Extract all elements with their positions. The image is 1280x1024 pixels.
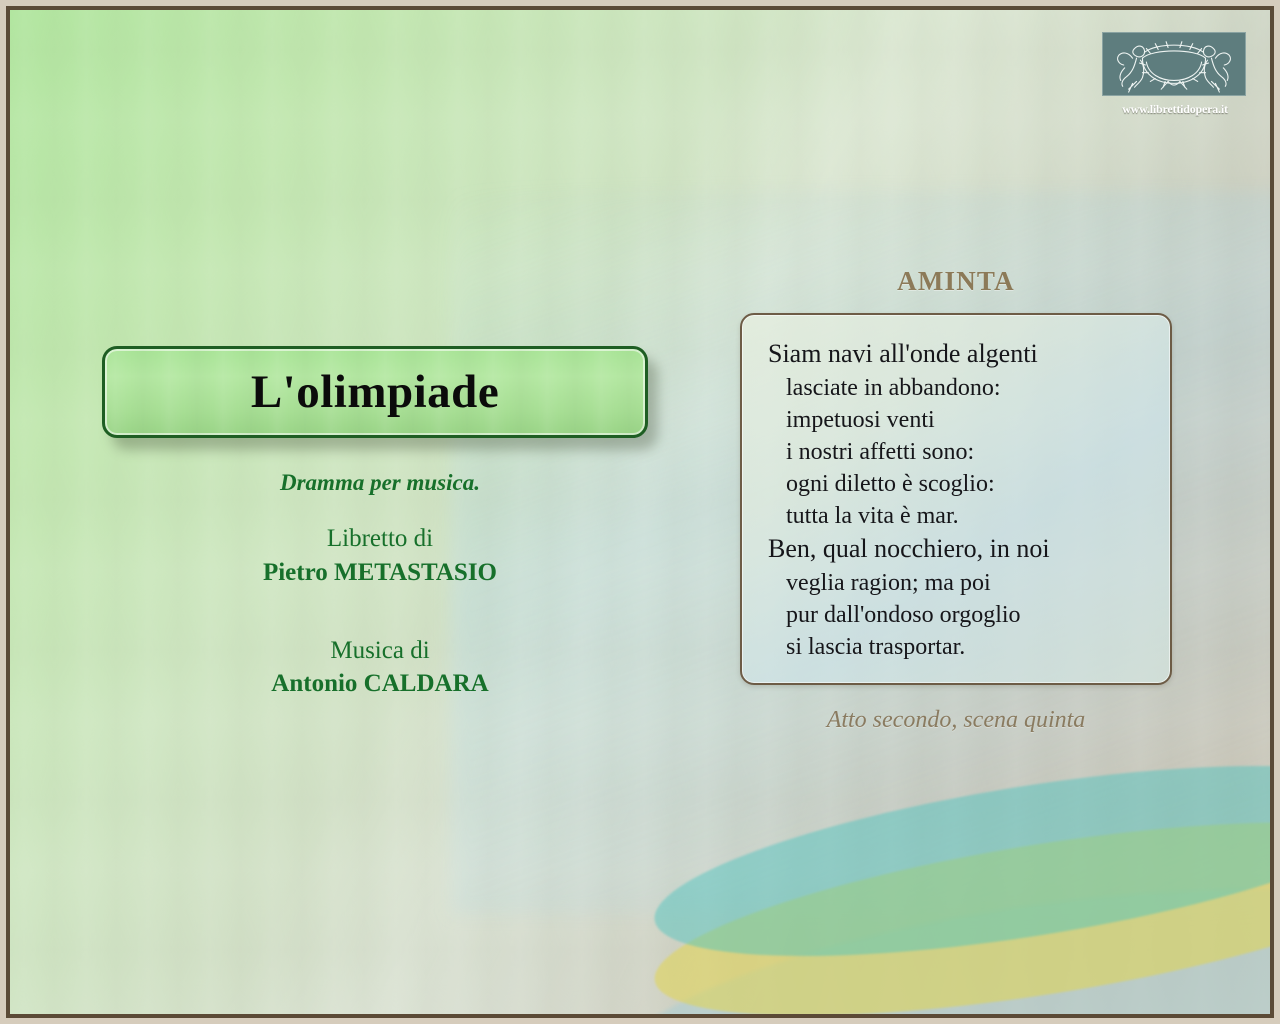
page-frame: www.librettidopera.it L'olimpiade Dramma… [6, 6, 1274, 1018]
libretto-role-label: Libretto di [102, 522, 658, 556]
page-title: L'olimpiade [251, 369, 499, 416]
site-url-label: www.librettidopera.it [1102, 102, 1248, 117]
libretto-credit: Libretto di Pietro METASTASIO [102, 522, 658, 590]
work-info-panel: L'olimpiade Dramma per musica. Libretto … [102, 346, 658, 701]
excerpt-line: veglia ragion; ma poi [764, 567, 1154, 599]
libretto-author-name: Pietro METASTASIO [102, 556, 658, 590]
scene-caption: Atto secondo, scena quinta [740, 707, 1172, 734]
excerpt-panel: AMINTA Siam navi all'onde algenti lascia… [740, 266, 1172, 734]
excerpt-line: i nostri affetti sono: [764, 436, 1154, 468]
music-role-label: Musica di [102, 634, 658, 668]
excerpt-quote-box: Siam navi all'onde algenti lasciate in a… [740, 313, 1172, 685]
excerpt-line: si lascia trasportar. [764, 631, 1154, 663]
excerpt-line: Siam navi all'onde algenti [764, 337, 1154, 372]
excerpt-line: impetuosi venti [764, 404, 1154, 436]
excerpt-line: lasciate in abbandono: [764, 372, 1154, 404]
excerpt-line: ogni diletto è scoglio: [764, 468, 1154, 500]
site-logo[interactable]: www.librettidopera.it [1102, 32, 1248, 117]
character-name-heading: AMINTA [740, 266, 1172, 297]
excerpt-line: pur dall'ondoso orgoglio [764, 599, 1154, 631]
title-plate[interactable]: L'olimpiade [102, 346, 648, 438]
cherubs-laurel-wreath-emblem-icon [1102, 32, 1246, 96]
music-author-name: Antonio CALDARA [102, 667, 658, 701]
excerpt-line: Ben, qual nocchiero, in noi [764, 532, 1154, 567]
title-plate-wrapper: L'olimpiade [102, 346, 658, 444]
excerpt-line: tutta la vita è mar. [764, 500, 1154, 532]
work-subtitle: Dramma per musica. [102, 470, 658, 496]
excerpt-lines: Siam navi all'onde algenti lasciate in a… [764, 337, 1154, 663]
music-credit: Musica di Antonio CALDARA [102, 634, 658, 702]
page-root: www.librettidopera.it L'olimpiade Dramma… [0, 0, 1280, 1024]
